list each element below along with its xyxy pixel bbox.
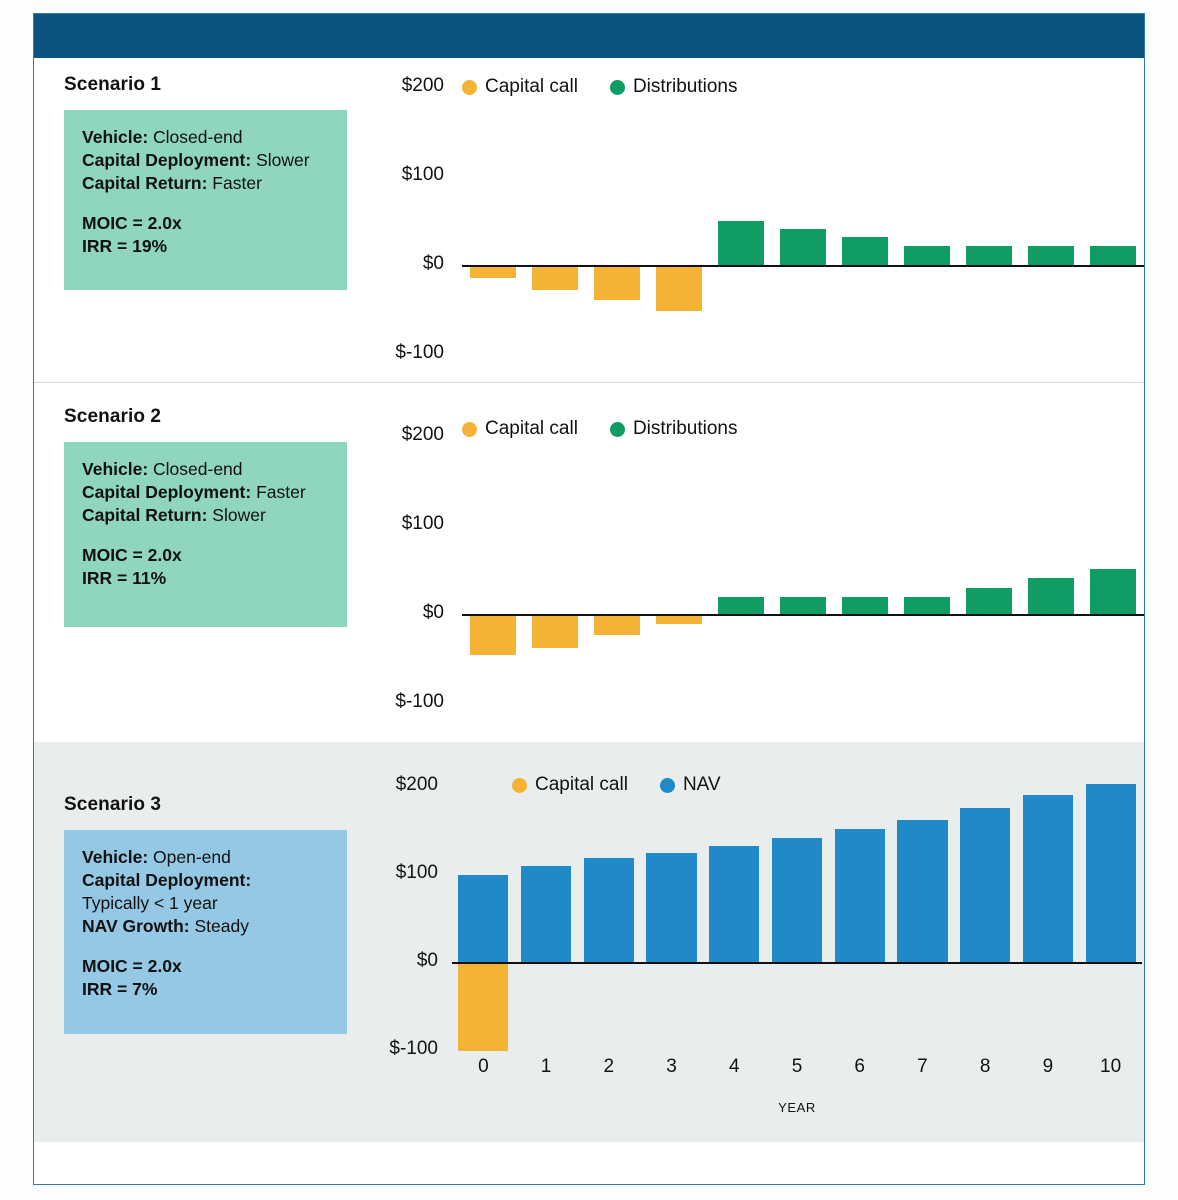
x-axis-tick: 0 [452, 1056, 515, 1078]
scenario-1-irr: IRR = 19% [82, 235, 347, 258]
bar-distributions-year-7 [904, 246, 950, 266]
x-axis-tick: 4 [703, 1056, 766, 1078]
zero-baseline [452, 962, 1142, 964]
scenario-2-line-1-value: Faster [251, 482, 305, 502]
bar-distributions-year-9 [1028, 246, 1074, 266]
bar-nav-year-4 [709, 846, 759, 963]
scenario-2-chart: Capital callDistributions$200$100$0$-100 [352, 398, 1144, 728]
scenario-3-section: Scenario 3 Vehicle: Open-end Capital Dep… [34, 742, 1144, 1142]
scenario-2-title: Scenario 2 [64, 406, 161, 428]
bar-distributions-year-10 [1090, 246, 1136, 266]
x-axis-tick: 9 [1017, 1056, 1080, 1078]
bar-distributions-year-9 [1028, 578, 1074, 615]
bar-capital-call-year-0 [458, 963, 508, 1051]
scenario-3-moic: MOIC = 2.0x [82, 955, 347, 978]
bar-nav-year-2 [584, 858, 634, 963]
scenario-3-line-2: Typically < 1 year [82, 892, 347, 915]
scenario-1-line-0-value: Closed-end [148, 127, 242, 147]
bar-capital-call-year-0 [470, 615, 516, 655]
zero-baseline [462, 265, 1144, 267]
bar-distributions-year-5 [780, 597, 826, 615]
bar-nav-year-9 [1023, 795, 1073, 963]
legend-item-nav[interactable]: NAV [660, 774, 721, 796]
scenario-1-title: Scenario 1 [64, 74, 161, 96]
bar-nav-year-10 [1086, 784, 1136, 963]
legend-label: Distributions [633, 76, 738, 98]
scenario-1-line-2-label: Capital Return: [82, 173, 207, 193]
scenario-2-line-1: Capital Deployment: Faster [82, 481, 347, 504]
scenario-3-line-0-value: Open-end [148, 847, 231, 867]
scenario-3-title: Scenario 3 [64, 794, 161, 816]
scenario-2-irr: IRR = 11% [82, 567, 347, 590]
legend-item-distributions[interactable]: Distributions [610, 76, 738, 98]
bar-nav-year-3 [646, 853, 696, 963]
bar-distributions-year-10 [1090, 569, 1136, 615]
scenario-2-line-1-label: Capital Deployment: [82, 482, 251, 502]
legend-dot-icon [512, 778, 527, 793]
scenario-1-section: Scenario 1 Vehicle: Closed-end Capital D… [34, 58, 1144, 382]
bar-capital-call-year-1 [532, 615, 578, 648]
chart2-host-legend: Capital callDistributions [462, 418, 759, 440]
bar-distributions-year-8 [966, 588, 1012, 615]
bar-nav-year-1 [521, 866, 571, 963]
legend-label: Capital call [535, 774, 628, 796]
bar-capital-call-year-1 [532, 266, 578, 290]
legend-item-capital-call[interactable]: Capital call [512, 774, 628, 796]
infographic-page: Scenario 1 Vehicle: Closed-end Capital D… [0, 0, 1178, 1200]
x-axis-tick: 5 [766, 1056, 829, 1078]
y-axis-tick: $0 [362, 253, 444, 275]
scenario-2-line-2-value: Slower [207, 505, 265, 525]
bar-distributions-year-5 [780, 229, 826, 266]
legend-dot-icon [610, 422, 625, 437]
y-axis-tick: $-100 [362, 691, 444, 713]
legend-label: NAV [683, 774, 721, 796]
scenario-3-line-3-label: NAV Growth: [82, 916, 190, 936]
x-axis-tick: 6 [828, 1056, 891, 1078]
scenario-3-chart: Capital callNAV$200$100$0$-1000123456789… [352, 762, 1144, 1132]
chart1-host-legend: Capital callDistributions [462, 76, 759, 98]
y-axis-tick: $200 [360, 774, 438, 796]
scenario-3-line-3-value: Steady [190, 916, 249, 936]
scenario-3-line-0-label: Vehicle: [82, 847, 148, 867]
scenario-3-irr: IRR = 7% [82, 978, 347, 1001]
scenario-1-line-0: Vehicle: Closed-end [82, 126, 347, 149]
section-divider [34, 382, 1144, 383]
y-axis-tick: $100 [362, 513, 444, 535]
y-axis-tick: $100 [362, 164, 444, 186]
bar-capital-call-year-3 [656, 266, 702, 311]
bar-capital-call-year-2 [594, 615, 640, 635]
scenario-3-line-1: Capital Deployment: [82, 869, 347, 892]
x-axis-tick: 8 [954, 1056, 1017, 1078]
y-axis-tick: $200 [362, 424, 444, 446]
scenario-2-line-2-label: Capital Return: [82, 505, 207, 525]
scenario-1-line-2: Capital Return: Faster [82, 172, 347, 195]
zero-baseline [462, 614, 1144, 616]
y-axis-tick: $100 [360, 862, 438, 884]
scenario-1-moic: MOIC = 2.0x [82, 212, 347, 235]
scenario-3-info-box: Vehicle: Open-end Capital Deployment: Ty… [64, 830, 347, 1034]
y-axis-tick: $0 [362, 602, 444, 624]
chart3-host-legend: Capital callNAV [512, 774, 743, 796]
scenario-1-chart: Capital callDistributions$200$100$0$-100 [352, 58, 1144, 382]
legend-label: Capital call [485, 76, 578, 98]
bar-capital-call-year-0 [470, 266, 516, 278]
scenario-1-line-1: Capital Deployment: Slower [82, 149, 347, 172]
bar-capital-call-year-2 [594, 266, 640, 300]
scenario-1-line-0-label: Vehicle: [82, 127, 148, 147]
scenario-1-info-box: Vehicle: Closed-end Capital Deployment: … [64, 110, 347, 290]
x-axis-tick: 10 [1079, 1056, 1142, 1078]
bar-nav-year-7 [897, 820, 947, 963]
x-axis-title: YEAR [452, 1100, 1142, 1115]
scenario-2-section: Scenario 2 Vehicle: Closed-end Capital D… [34, 384, 1144, 742]
legend-item-capital-call[interactable]: Capital call [462, 76, 578, 98]
scenario-2-moic: MOIC = 2.0x [82, 544, 347, 567]
x-axis-tick: 2 [577, 1056, 640, 1078]
y-axis-tick: $-100 [362, 342, 444, 364]
x-axis-tick: 7 [891, 1056, 954, 1078]
bar-capital-call-year-3 [656, 615, 702, 624]
scenario-2-line-0-value: Closed-end [148, 459, 242, 479]
scenario-3-line-1-label: Capital Deployment: [82, 870, 251, 890]
x-axis-tick: 3 [640, 1056, 703, 1078]
bar-nav-year-6 [835, 829, 885, 963]
y-axis-tick: $-100 [360, 1038, 438, 1060]
scenario-3-line-0: Vehicle: Open-end [82, 846, 347, 869]
legend-dot-icon [660, 778, 675, 793]
x-axis-tick: 1 [515, 1056, 578, 1078]
scenario-2-info-box: Vehicle: Closed-end Capital Deployment: … [64, 442, 347, 627]
legend-label: Distributions [633, 418, 738, 440]
scenario-2-line-0-label: Vehicle: [82, 459, 148, 479]
scenario-3-line-2-value: Typically < 1 year [82, 893, 218, 913]
bar-distributions-year-4 [718, 597, 764, 615]
bar-nav-year-8 [960, 808, 1010, 963]
legend-dot-icon [610, 80, 625, 95]
bar-distributions-year-7 [904, 597, 950, 615]
bar-nav-year-0 [458, 875, 508, 963]
y-axis-tick: $0 [360, 950, 438, 972]
scenario-1-line-1-label: Capital Deployment: [82, 150, 251, 170]
legend-dot-icon [462, 422, 477, 437]
scenario-1-line-1-value: Slower [251, 150, 309, 170]
scenario-2-line-2: Capital Return: Slower [82, 504, 347, 527]
bar-distributions-year-4 [718, 221, 764, 266]
scenario-3-line-3: NAV Growth: Steady [82, 915, 347, 938]
header-bar [34, 14, 1144, 58]
legend-dot-icon [462, 80, 477, 95]
scenario-2-line-0: Vehicle: Closed-end [82, 458, 347, 481]
scenario-1-line-2-value: Faster [207, 173, 261, 193]
bar-distributions-year-8 [966, 246, 1012, 266]
legend-label: Capital call [485, 418, 578, 440]
legend-item-capital-call[interactable]: Capital call [462, 418, 578, 440]
bar-distributions-year-6 [842, 237, 888, 266]
legend-item-distributions[interactable]: Distributions [610, 418, 738, 440]
bar-distributions-year-6 [842, 597, 888, 615]
y-axis-tick: $200 [362, 75, 444, 97]
bar-nav-year-5 [772, 838, 822, 963]
